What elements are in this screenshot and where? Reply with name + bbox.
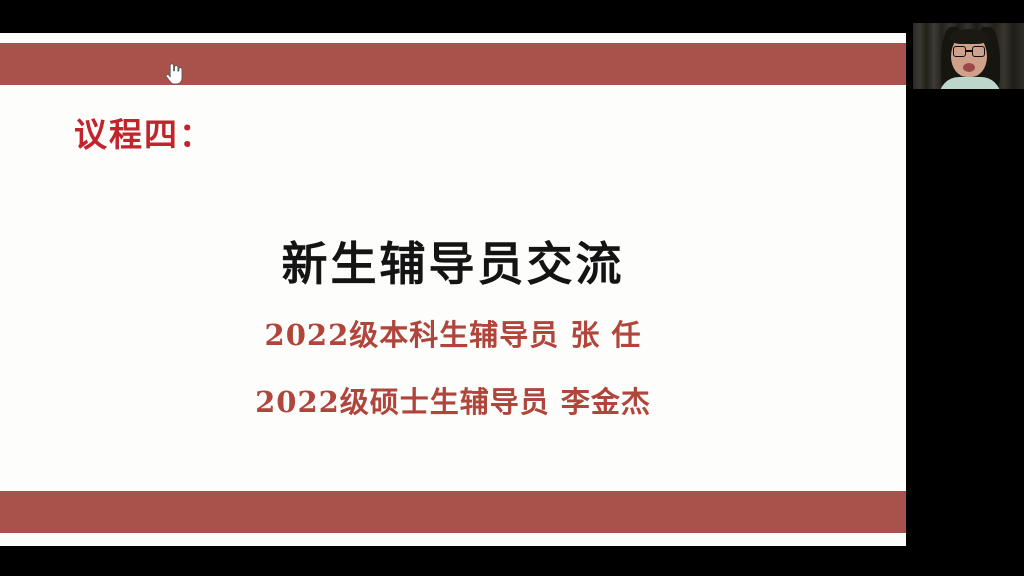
speaker-webcam-thumbnail[interactable] <box>913 23 1024 95</box>
agenda-section-label: 议程四： <box>74 118 214 151</box>
presenter-line-graduate: 2022级硕士生辅导员 李金杰 <box>0 388 906 417</box>
webcam-mouth <box>963 63 975 72</box>
slide-top-accent-bar <box>0 43 906 85</box>
webcam-hair-fringe <box>950 29 988 44</box>
presentation-slide: 议程四： 新生辅导员交流 2022级本科生辅导员 张 任 2022级硕士生辅导员… <box>0 33 906 546</box>
screen-share-viewport: 议程四： 新生辅导员交流 2022级本科生辅导员 张 任 2022级硕士生辅导员… <box>0 0 1024 576</box>
webcam-glasses-lens-left <box>953 46 966 57</box>
slide-bottom-accent-bar <box>0 491 906 533</box>
webcam-letterbox <box>913 89 1024 95</box>
webcam-glasses-icon <box>953 46 985 57</box>
webcam-glasses-lens-right <box>972 46 985 57</box>
slide-heading: 新生辅导员交流 <box>0 241 906 287</box>
presenter-line-undergraduate: 2022级本科生辅导员 张 任 <box>0 321 906 350</box>
